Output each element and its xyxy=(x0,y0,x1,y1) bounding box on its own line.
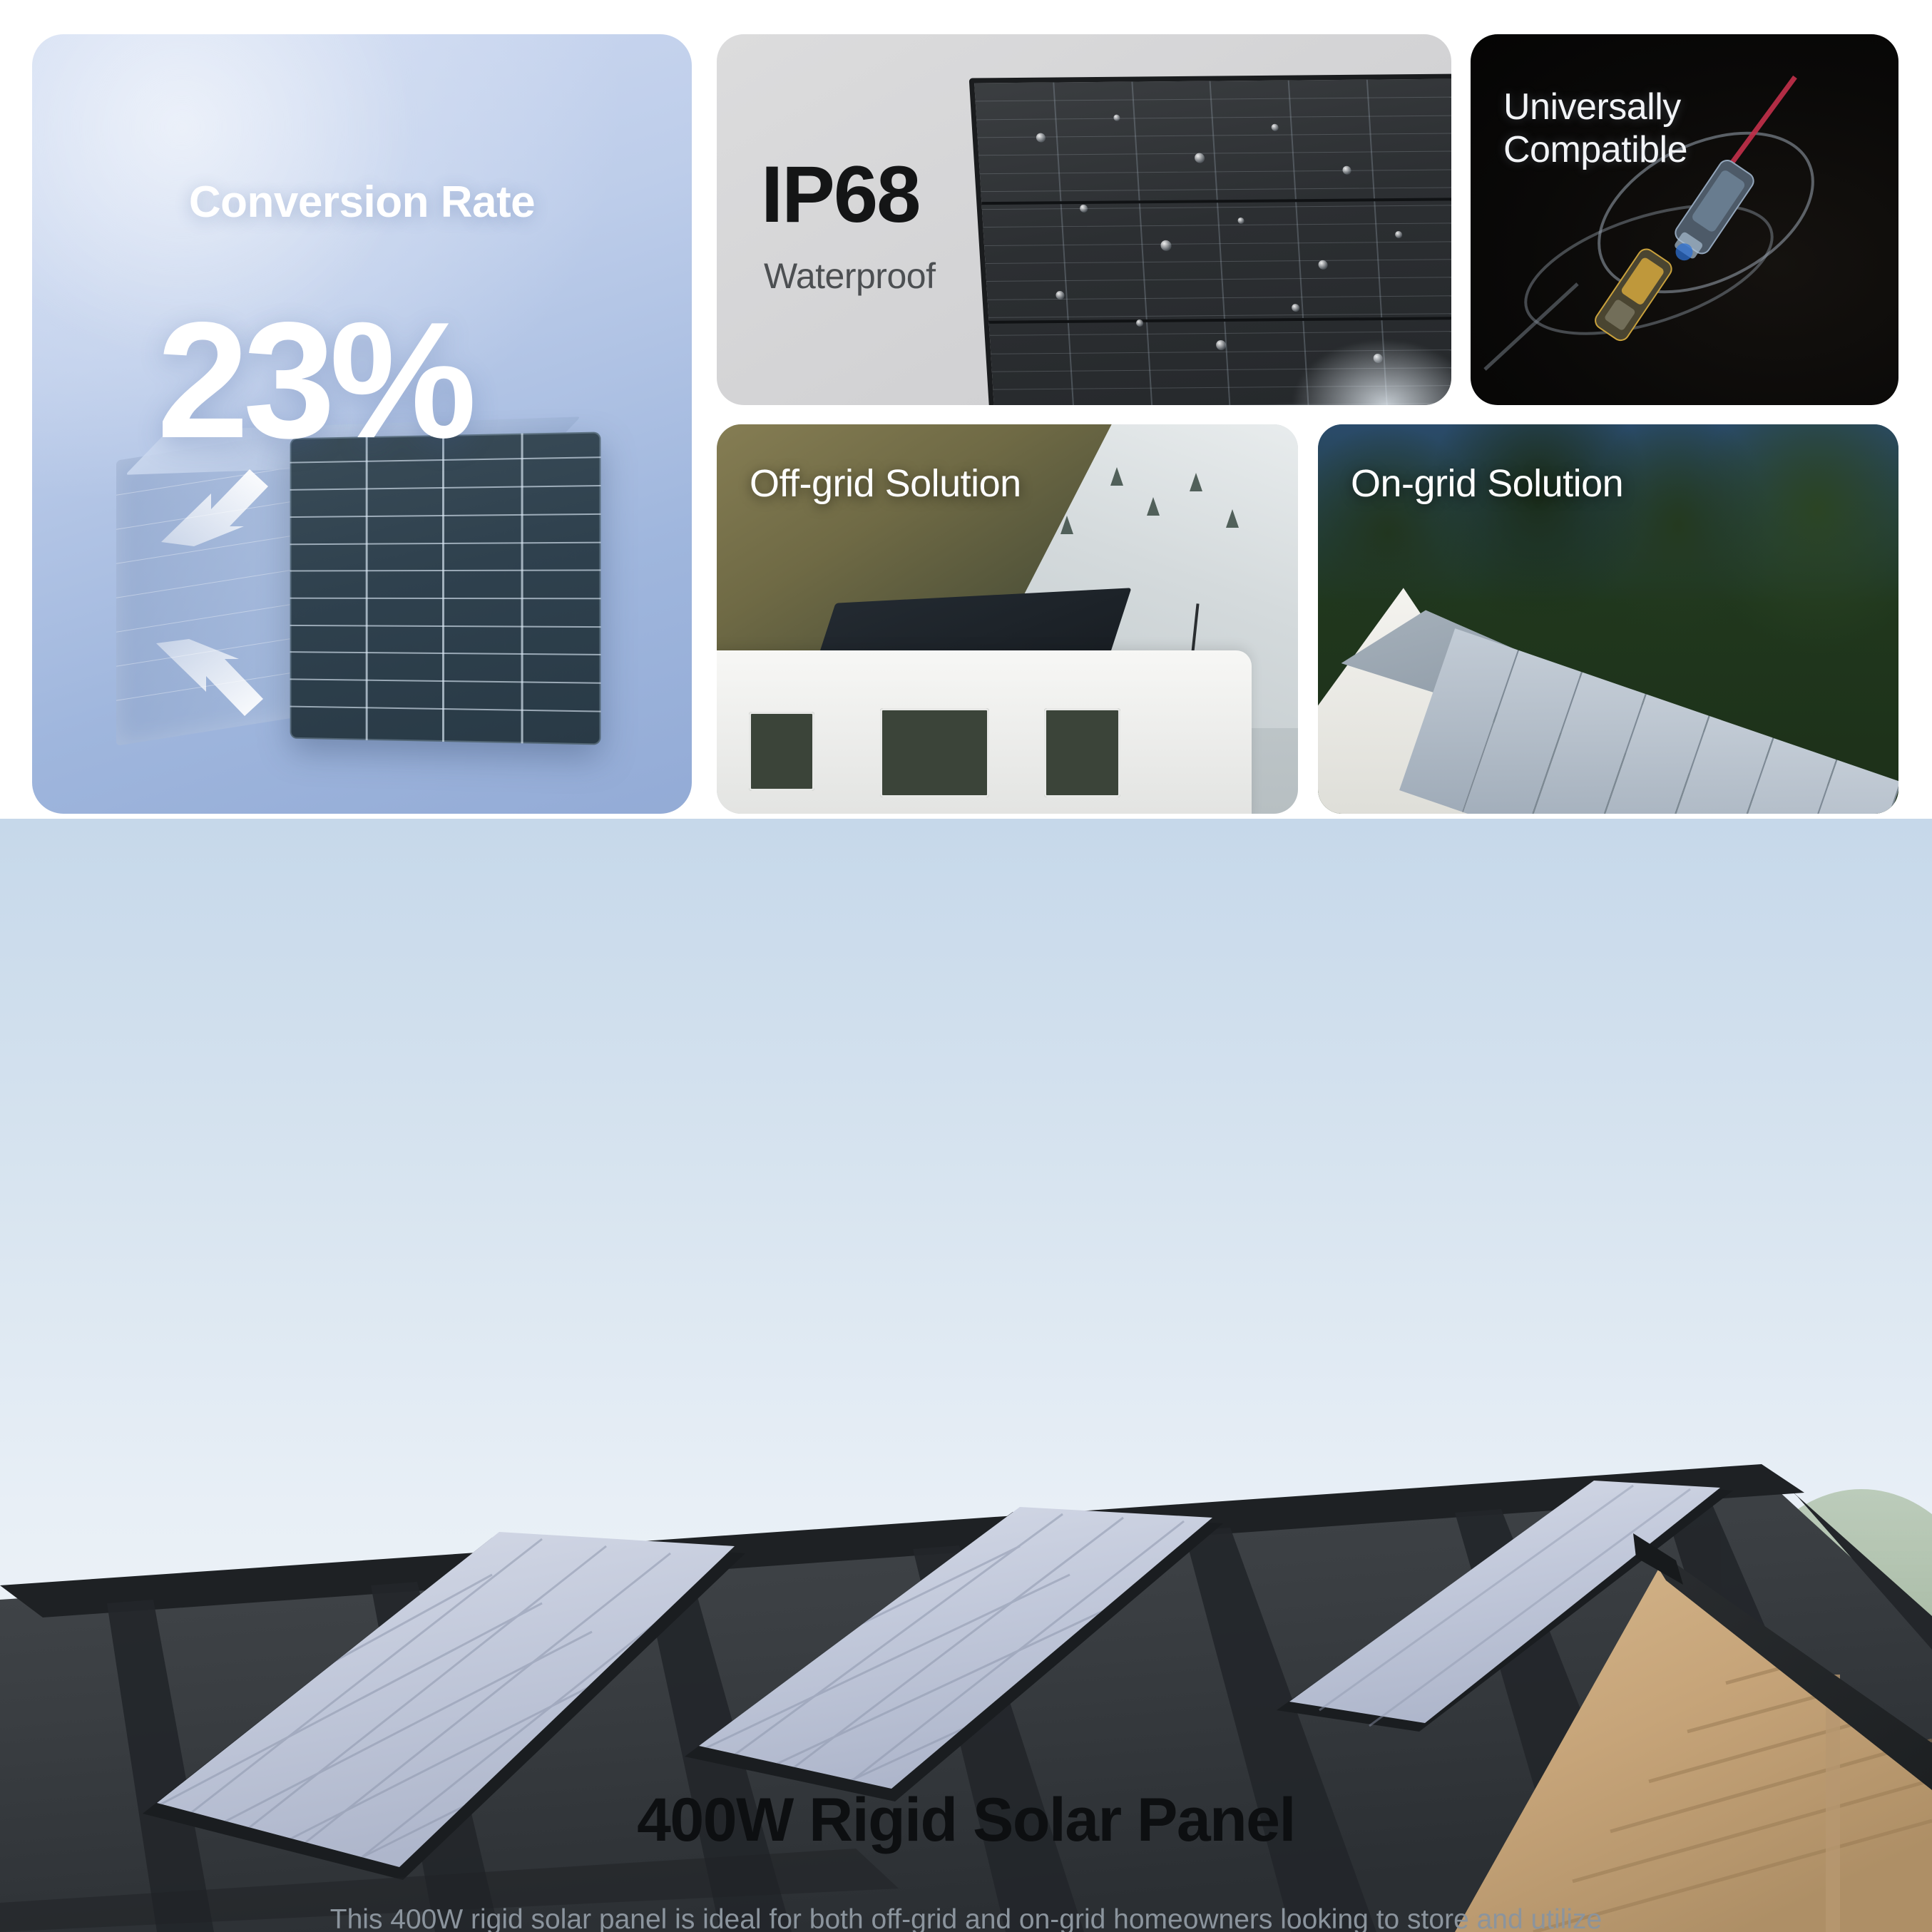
conversion-rate-title: Conversion Rate xyxy=(32,177,692,228)
arrow-down-icon xyxy=(152,633,273,726)
feature-card-conversion-rate[interactable]: Conversion Rate 23% xyxy=(32,34,692,814)
rv-body xyxy=(717,650,1252,814)
feature-card-grid: Conversion Rate 23% xyxy=(0,0,1932,819)
feature-card-waterproof[interactable]: IP68 Waterproof xyxy=(717,34,1451,405)
arrow-up-icon xyxy=(155,462,277,548)
solar-cell-block xyxy=(290,431,601,745)
water-splash-decoration xyxy=(1195,240,1451,405)
offgrid-solution-label: Off-grid Solution xyxy=(750,461,1021,506)
wet-solar-panel-photo xyxy=(969,73,1451,405)
hero-section: 400W Rigid Solar Panel This 400W rigid s… xyxy=(0,819,1932,1932)
description-line-1: This 400W rigid solar panel is ideal for… xyxy=(330,1904,1273,1932)
feature-card-ongrid-solution[interactable]: On-grid Solution xyxy=(1318,424,1898,814)
universal-title-line1: Universally xyxy=(1503,86,1681,128)
waterproof-label: Waterproof xyxy=(764,255,935,297)
waterproof-rating: IP68 xyxy=(761,148,919,240)
hero-roof-photo xyxy=(0,819,1932,1932)
conversion-rate-value: 23% xyxy=(157,298,471,464)
feature-card-offgrid-solution[interactable]: Off-grid Solution xyxy=(717,424,1298,814)
feature-card-universally-compatible[interactable]: Universally Compatible xyxy=(1471,34,1898,405)
page-title: 400W Rigid Solar Panel xyxy=(0,1785,1932,1856)
page-description: This 400W rigid solar panel is ideal for… xyxy=(328,1896,1605,1932)
universal-title-line2: Compatible xyxy=(1503,129,1687,170)
universally-compatible-title: Universally Compatible xyxy=(1503,86,1687,172)
ongrid-solution-label: On-grid Solution xyxy=(1351,461,1623,506)
